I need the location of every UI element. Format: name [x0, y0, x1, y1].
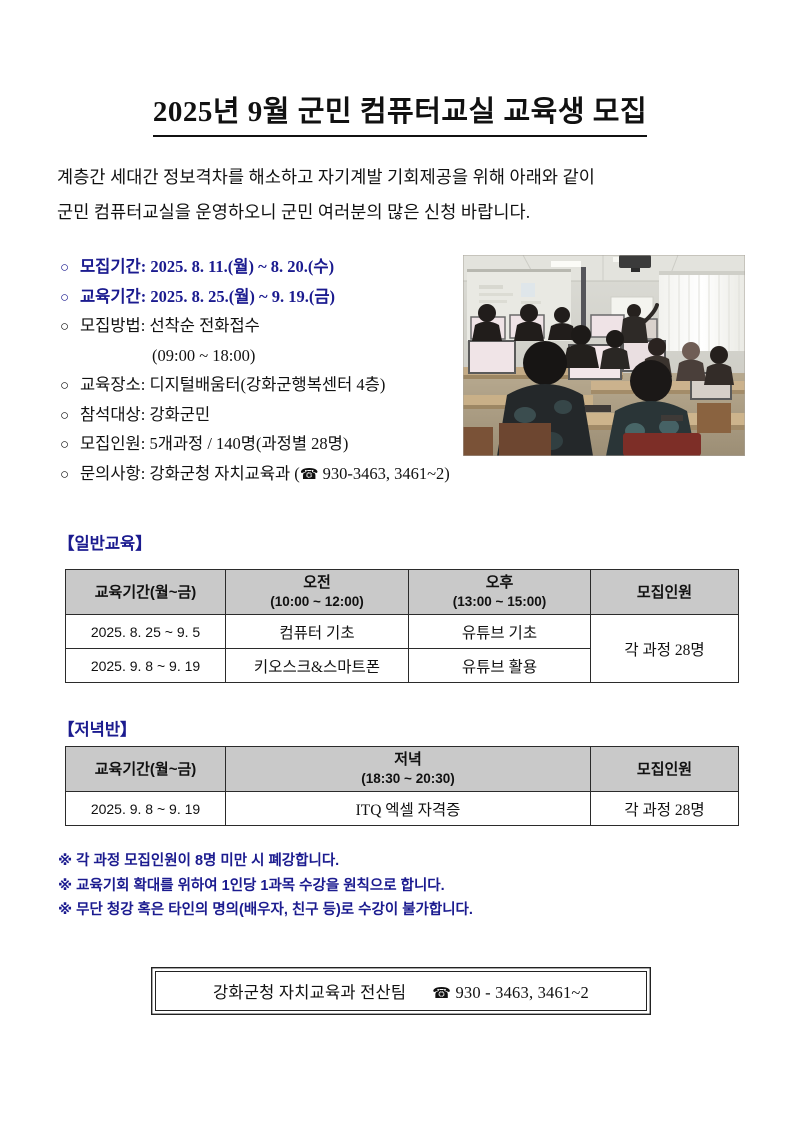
bullet-value: 2025. 8. 25.(월) ~ 9. 19.(금) — [150, 287, 335, 306]
bullet-value: 선착순 전화접수 — [149, 316, 259, 335]
intro-line-2: 군민 컴퓨터교실을 운영하오니 군민 여러분의 많은 신청 바랍니다. — [57, 195, 747, 230]
intro-line-1: 계층간 세대간 정보격차를 해소하고 자기계발 기회제공을 위해 아래와 같이 — [57, 160, 747, 195]
intro-paragraph: 계층간 세대간 정보격차를 해소하고 자기계발 기회제공을 위해 아래와 같이 … — [57, 160, 747, 230]
bullet-marker-icon: ○ — [60, 461, 80, 491]
table-header-row: 교육기간(월~금) 오전 (10:00 ~ 12:00) 오후 (13:00 ~… — [66, 570, 739, 615]
note-item: ※ 각 과정 모집인원이 8명 미만 시 폐강합니다. — [58, 849, 473, 874]
classroom-photo — [463, 255, 745, 456]
bullet-label: 교육기간: — [80, 287, 146, 306]
telephone-icon: ☎ — [432, 984, 451, 1002]
table-row: 2025. 8. 25 ~ 9. 5 컴퓨터 기초 유튜브 기초 각 과정 28… — [66, 615, 739, 649]
document-page: 2025년 9월 군민 컴퓨터교실 교육생 모집 계층간 세대간 정보격차를 해… — [0, 0, 800, 1131]
bullet-contact-number: 930-3463, 3461~2) — [319, 464, 450, 483]
cell-capacity: 각 과정 28명 — [591, 792, 739, 826]
bullet-label: 모집기간: — [80, 257, 146, 276]
column-header-period: 교육기간(월~금) — [66, 570, 226, 615]
note-item-text: 교육기회 확대를 위하여 1인당 1과목 수강을 원칙으로 합니다. — [76, 878, 445, 894]
bullet-item-contact: ○문의사항: 강화군청 자치교육과 (☎ 930-3463, 3461~2) — [60, 459, 580, 489]
bullet-marker-icon: ○ — [60, 402, 80, 432]
column-header-morning-time: (10:00 ~ 12:00) — [226, 592, 408, 611]
column-header-capacity-label: 모집인원 — [637, 761, 692, 778]
column-header-period: 교육기간(월~금) — [66, 747, 226, 792]
cell-period: 2025. 9. 8 ~ 9. 19 — [66, 649, 226, 683]
classroom-photo-graphic — [463, 255, 745, 456]
column-header-evening-label: 저녁 — [394, 751, 422, 768]
column-header-evening: 저녁 (18:30 ~ 20:30) — [226, 747, 591, 792]
asterisk-icon: ※ — [58, 902, 72, 918]
page-title: 2025년 9월 군민 컴퓨터교실 교육생 모집 — [0, 88, 800, 137]
cell-afternoon-course: 유튜브 활용 — [409, 649, 591, 683]
telephone-icon: ☎ — [300, 465, 319, 483]
asterisk-icon: ※ — [58, 853, 72, 869]
table-header-row: 교육기간(월~금) 저녁 (18:30 ~ 20:30) 모집인원 — [66, 747, 739, 792]
evening-class-table: 교육기간(월~금) 저녁 (18:30 ~ 20:30) 모집인원 2025. … — [65, 746, 739, 826]
column-header-afternoon: 오후 (13:00 ~ 15:00) — [409, 570, 591, 615]
note-item: ※ 교육기회 확대를 위하여 1인당 1과목 수강을 원칙으로 합니다. — [58, 874, 473, 899]
bullet-value: 2025. 8. 11.(월) ~ 8. 20.(수) — [150, 257, 334, 276]
column-header-morning-label: 오전 — [303, 574, 331, 591]
cell-period: 2025. 9. 8 ~ 9. 19 — [66, 792, 226, 826]
bullet-value: 강화군민 — [149, 405, 210, 424]
column-header-capacity: 모집인원 — [591, 570, 739, 615]
column-header-capacity: 모집인원 — [591, 747, 739, 792]
cell-morning-course: 키오스크&스마트폰 — [226, 649, 409, 683]
column-header-period-label: 교육기간(월~금) — [95, 761, 197, 778]
bullet-label: 모집방법: — [80, 316, 145, 335]
footer-contact-box: 강화군청 자치교육과 전산팀☎ 930 - 3463, 3461~2 — [155, 971, 647, 1011]
footer-phone-number: 930 - 3463, 3461~2 — [455, 983, 589, 1002]
bullet-marker-icon: ○ — [60, 372, 80, 402]
cell-afternoon-course: 유튜브 기초 — [409, 615, 591, 649]
bullet-value: 디지털배움터(강화군행복센터 4층) — [149, 375, 385, 394]
table-row: 2025. 9. 8 ~ 9. 19 ITQ 엑셀 자격증 각 과정 28명 — [66, 792, 739, 826]
bullet-marker-icon: ○ — [60, 284, 80, 314]
footer-contact-text: 강화군청 자치교육과 전산팀☎ 930 - 3463, 3461~2 — [213, 979, 589, 1003]
page-title-text: 2025년 9월 군민 컴퓨터교실 교육생 모집 — [153, 88, 647, 137]
note-item-text: 각 과정 모집인원이 8명 미만 시 폐강합니다. — [76, 853, 339, 869]
note-item-text: 무단 청강 혹은 타인의 명의(배우자, 친구 등)로 수강이 불가합니다. — [76, 902, 473, 918]
asterisk-icon: ※ — [58, 878, 72, 894]
column-header-afternoon-label: 오후 — [486, 574, 514, 591]
bullet-marker-icon: ○ — [60, 431, 80, 461]
bullet-marker-icon: ○ — [60, 313, 80, 343]
column-header-evening-time: (18:30 ~ 20:30) — [226, 769, 590, 788]
bullet-value: 5개과정 / 140명(과정별 28명) — [149, 434, 348, 453]
column-header-period-label: 교육기간(월~금) — [95, 584, 197, 601]
bullet-marker-icon: ○ — [60, 254, 80, 284]
cell-evening-course: ITQ 엑셀 자격증 — [226, 792, 591, 826]
section-heading-evening: 【저녁반】 — [58, 716, 137, 740]
cell-period: 2025. 8. 25 ~ 9. 5 — [66, 615, 226, 649]
column-header-afternoon-time: (13:00 ~ 15:00) — [409, 592, 590, 611]
column-header-capacity-label: 모집인원 — [637, 584, 692, 601]
bullet-contact-office: 강화군청 자치교육과 ( — [149, 464, 299, 483]
note-item: ※ 무단 청강 혹은 타인의 명의(배우자, 친구 등)로 수강이 불가합니다. — [58, 898, 473, 923]
bullet-label: 문의사항: — [80, 464, 145, 483]
general-education-table: 교육기간(월~금) 오전 (10:00 ~ 12:00) 오후 (13:00 ~… — [65, 569, 739, 683]
footer-organization: 강화군청 자치교육과 전산팀 — [213, 983, 406, 1002]
cell-morning-course: 컴퓨터 기초 — [226, 615, 409, 649]
column-header-morning: 오전 (10:00 ~ 12:00) — [226, 570, 409, 615]
section-heading-general: 【일반교육】 — [58, 530, 152, 554]
bullet-label: 교육장소: — [80, 375, 145, 394]
notes-list: ※ 각 과정 모집인원이 8명 미만 시 폐강합니다. ※ 교육기회 확대를 위… — [58, 849, 473, 923]
bullet-label: 참석대상: — [80, 405, 145, 424]
cell-capacity: 각 과정 28명 — [591, 615, 739, 683]
bullet-label: 모집인원: — [80, 434, 145, 453]
